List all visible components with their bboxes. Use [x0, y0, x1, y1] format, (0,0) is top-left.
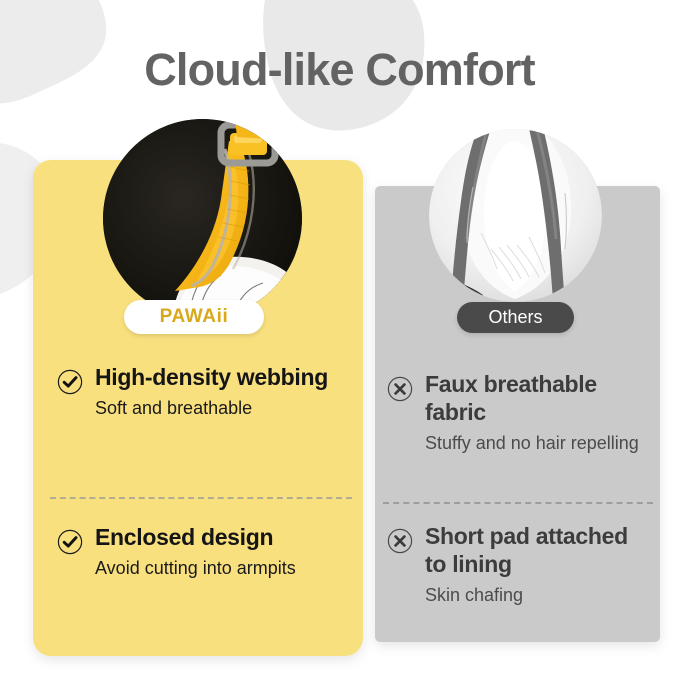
- feature-title: Faux breathable fabric: [425, 370, 655, 426]
- card-divider: [50, 497, 352, 499]
- infographic-canvas: Cloud-like Comfort High-density webbing …: [0, 0, 679, 675]
- feature-row-short-pad: Short pad attached to lining Skin chafin…: [387, 522, 655, 607]
- page-title: Cloud-like Comfort: [0, 42, 679, 98]
- feature-subtitle: Stuffy and no hair repelling: [425, 432, 655, 455]
- feature-title: High-density webbing: [95, 363, 328, 391]
- card-divider: [383, 502, 653, 504]
- feature-subtitle: Avoid cutting into armpits: [95, 557, 296, 580]
- feature-row-high-density-webbing: High-density webbing Soft and breathable: [57, 363, 347, 420]
- feature-row-faux-breathable-fabric: Faux breathable fabric Stuffy and no hai…: [387, 370, 655, 455]
- product-photo-pawaii: [103, 119, 302, 318]
- badge-others: Others: [457, 302, 574, 333]
- feature-title: Enclosed design: [95, 523, 296, 551]
- cross-icon: [387, 376, 413, 402]
- check-icon: [57, 369, 83, 395]
- feature-text-block: Short pad attached to lining Skin chafin…: [425, 522, 655, 607]
- product-photo-others: [429, 129, 602, 302]
- feature-subtitle: Soft and breathable: [95, 397, 328, 420]
- badge-pawaii: PAWAii: [124, 300, 264, 334]
- feature-subtitle: Skin chafing: [425, 584, 655, 607]
- check-icon: [57, 529, 83, 555]
- feature-title: Short pad attached to lining: [425, 522, 655, 578]
- cross-icon: [387, 528, 413, 554]
- feature-text-block: Faux breathable fabric Stuffy and no hai…: [425, 370, 655, 455]
- feature-row-enclosed-design: Enclosed design Avoid cutting into armpi…: [57, 523, 347, 580]
- feature-text-block: High-density webbing Soft and breathable: [95, 363, 328, 420]
- feature-text-block: Enclosed design Avoid cutting into armpi…: [95, 523, 296, 580]
